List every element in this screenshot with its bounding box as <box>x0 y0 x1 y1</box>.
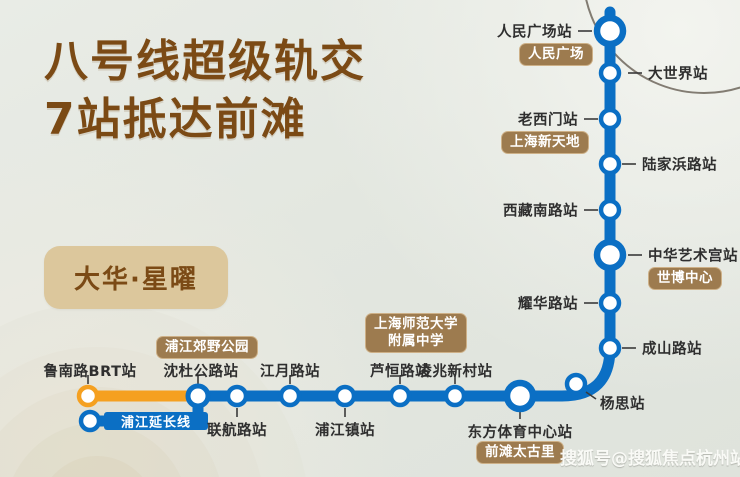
station-label-pujiangzhen: 浦江镇站 <box>315 419 375 440</box>
poi-badge-xintiandi: 上海新天地 <box>501 131 589 154</box>
watermark: 搜狐号@搜狐焦点杭州站 <box>560 444 740 469</box>
poi-badge-qiantan-taikoo-li: 前滩太古里 <box>476 441 564 464</box>
station-label-laoximen: 老西门站 <box>518 109 578 130</box>
poi-badge-shibozhongxin: 世博中心 <box>648 267 722 290</box>
station-label-jiangyue: 江月路站 <box>260 360 320 381</box>
station-label-shendugonglu: 沈杜公路站 <box>164 360 239 381</box>
station-label-dongfangtiyuzhongxin: 东方体育中心站 <box>468 421 573 442</box>
poster-canvas: 八号线超级轨交 7站抵达前滩 大华·星曜 <box>0 0 740 477</box>
poi-badge-shanghai-normal-univ-affiliated-middle-school: 上海师范大学 附属中学 <box>365 313 467 353</box>
station-label-xizangnan: 西藏南路站 <box>503 200 578 221</box>
poi-badge-renmin-guangchang: 人民广场 <box>519 43 593 66</box>
station-label-yaohua: 耀华路站 <box>518 293 578 314</box>
branch-line-label: 浦江延长线 <box>121 412 191 431</box>
station-label-lunanlu-brt: 鲁南路BRT站 <box>44 360 137 381</box>
station-label-renmin-guangchang: 人民广场站 <box>497 21 572 42</box>
poi-badge-line-1: 上海师范大学 <box>374 316 458 332</box>
poi-badge-line-2: 附属中学 <box>374 333 458 350</box>
station-label-luheng: 芦恒路站 <box>370 360 430 381</box>
station-label-chengshan: 成山路站 <box>642 338 702 359</box>
station-label-dashijie: 大世界站 <box>648 63 708 84</box>
station-label-lianhang: 联航路站 <box>207 419 267 440</box>
station-label-yangsi: 杨思站 <box>600 393 645 414</box>
poi-badge-pujiang-country-park: 浦江郊野公园 <box>156 336 258 359</box>
station-label-lujiabang: 陆家浜路站 <box>642 154 717 175</box>
station-label-zhonghuayishugong: 中华艺术宫站 <box>648 245 738 266</box>
